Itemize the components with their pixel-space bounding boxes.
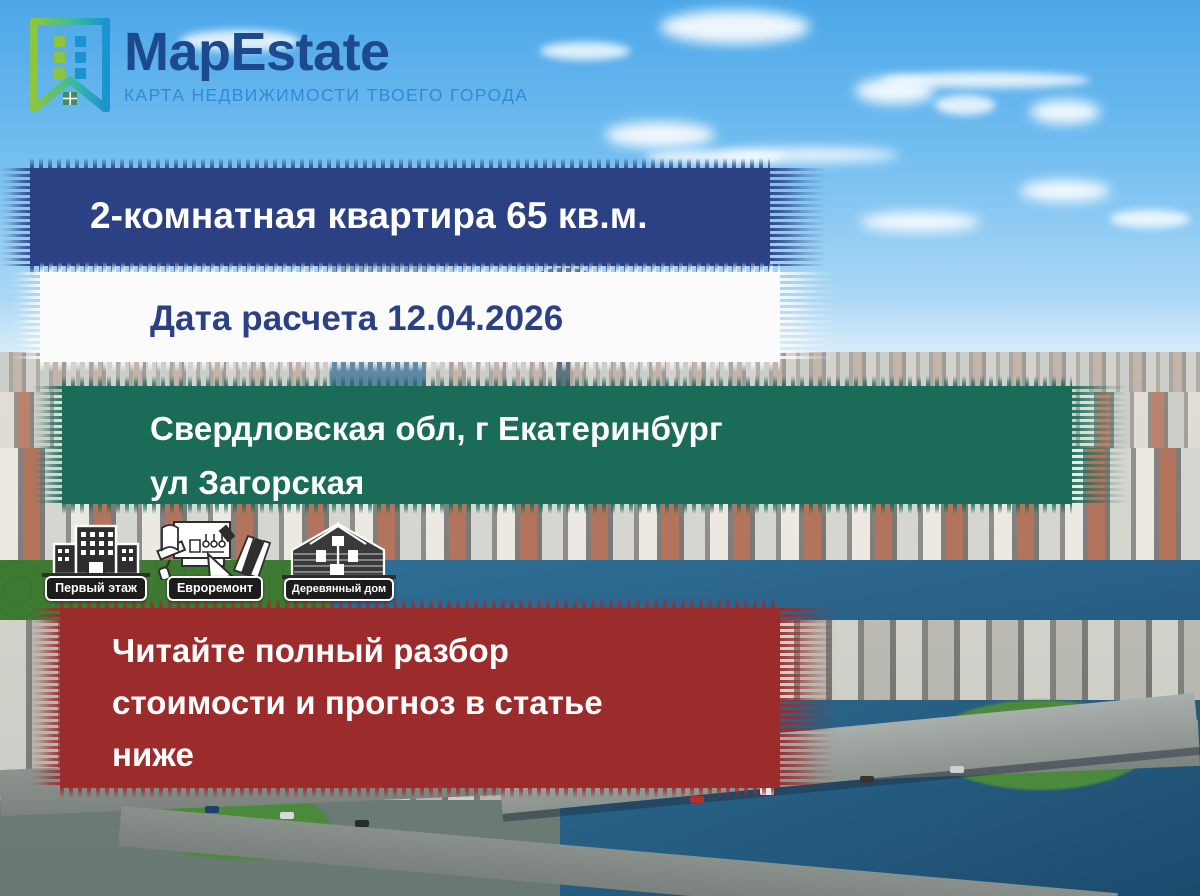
banner-fray-bottom: [40, 360, 780, 372]
brand-name: MapEstate: [124, 22, 528, 82]
banner-fray-right: [776, 272, 836, 362]
banner-fray-top: [40, 262, 780, 274]
banner-fray-top: [30, 158, 770, 170]
brand-logo[interactable]: MapEstate КАРТА НЕДВИЖИМОСТИ ТВОЕГО ГОРО…: [30, 18, 528, 112]
banner-fray-left: [10, 272, 44, 362]
car: [355, 820, 369, 827]
banner-fray-left: [30, 608, 64, 788]
car: [205, 806, 219, 813]
car: [950, 766, 964, 773]
calculation-date-text: Дата расчета 12.04.2026: [150, 295, 563, 343]
bookmark-building-icon: [30, 18, 110, 112]
cloud: [935, 95, 995, 115]
banner-fray-left: [32, 386, 66, 504]
cloud: [605, 122, 715, 148]
cloud: [1020, 180, 1110, 202]
cloud: [540, 42, 630, 60]
property-promo-poster: MapEstate КАРТА НЕДВИЖИМОСТИ ТВОЕГО ГОРО…: [0, 0, 1200, 896]
badge-label: Первый этаж: [45, 576, 147, 601]
wooden-house-icon: [280, 520, 398, 582]
banner-fray-bottom: [60, 786, 780, 798]
renovation-tools-icon: [156, 518, 274, 580]
banner-fray-right: [776, 608, 836, 788]
cloud: [1030, 100, 1100, 124]
badge-label: Деревянный дом: [284, 578, 394, 601]
cloud: [855, 78, 935, 104]
badge-label: Евроремонт: [167, 576, 263, 601]
cloud: [1110, 210, 1190, 228]
feature-badge-row: Первый этаж: [42, 518, 398, 601]
cta-text: Читайте полный разбор стоимости и прогно…: [112, 625, 603, 781]
banner-fray-left: [0, 168, 34, 266]
badge-euro-renovation[interactable]: Евроремонт: [156, 518, 274, 601]
banner-fray-right: [1068, 386, 1128, 504]
property-title-text: 2-комнатная квартира 65 кв.м.: [90, 190, 648, 242]
brand-tagline: КАРТА НЕДВИЖИМОСТИ ТВОЕГО ГОРОДА: [124, 84, 528, 106]
apartment-building-icon: [42, 518, 150, 580]
address-text: Свердловская обл, г Екатеринбург ул Заго…: [150, 402, 723, 510]
brand-wordmark: MapEstate КАРТА НЕДВИЖИМОСТИ ТВОЕГО ГОРО…: [124, 18, 528, 106]
car: [280, 812, 294, 819]
badge-wooden-house[interactable]: Деревянный дом: [280, 520, 398, 601]
banner-fray-right: [766, 168, 826, 266]
car: [860, 776, 874, 783]
badge-first-floor[interactable]: Первый этаж: [42, 518, 150, 601]
cloud: [860, 212, 980, 232]
banner-fray-top: [62, 376, 1072, 388]
cloud: [660, 10, 810, 44]
